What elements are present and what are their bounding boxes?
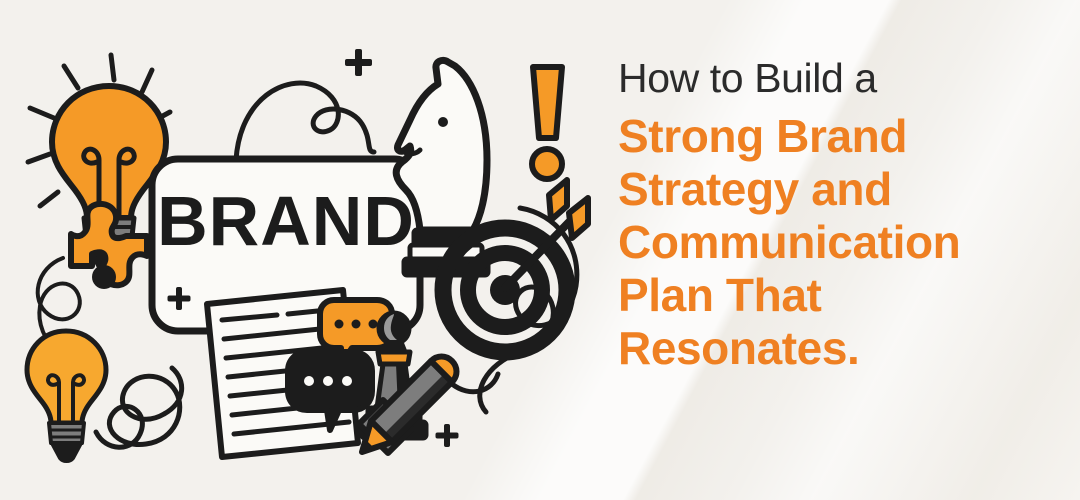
lightbulb-small-icon — [27, 331, 106, 461]
brand-bubble-label: BRAND — [157, 182, 415, 260]
headline-line-1: How to Build a — [618, 58, 1068, 99]
headline-line-2: Strong Brand — [618, 113, 1068, 159]
exclamation-mark-icon — [532, 67, 562, 179]
headline-line-3: Strategy and — [618, 166, 1068, 212]
plus-sign-icon — [436, 424, 459, 447]
swirl-line-decoration — [236, 83, 374, 160]
brand-illustration: .ink { stroke:#1c1c1c; fill:none; stroke… — [0, 0, 620, 500]
headline-line-6: Resonates. — [618, 325, 1068, 371]
plus-sign-icon — [345, 49, 372, 76]
swirl-line-decoration — [96, 368, 182, 447]
swirl-line-decoration — [452, 374, 498, 392]
brand-strategy-banner: .ink { stroke:#1c1c1c; fill:none; stroke… — [0, 0, 1080, 500]
headline-line-4: Communication — [618, 219, 1068, 265]
headline-block: How to Build a Strong Brand Strategy and… — [618, 58, 1068, 371]
headline-line-5: Plan That — [618, 272, 1068, 318]
